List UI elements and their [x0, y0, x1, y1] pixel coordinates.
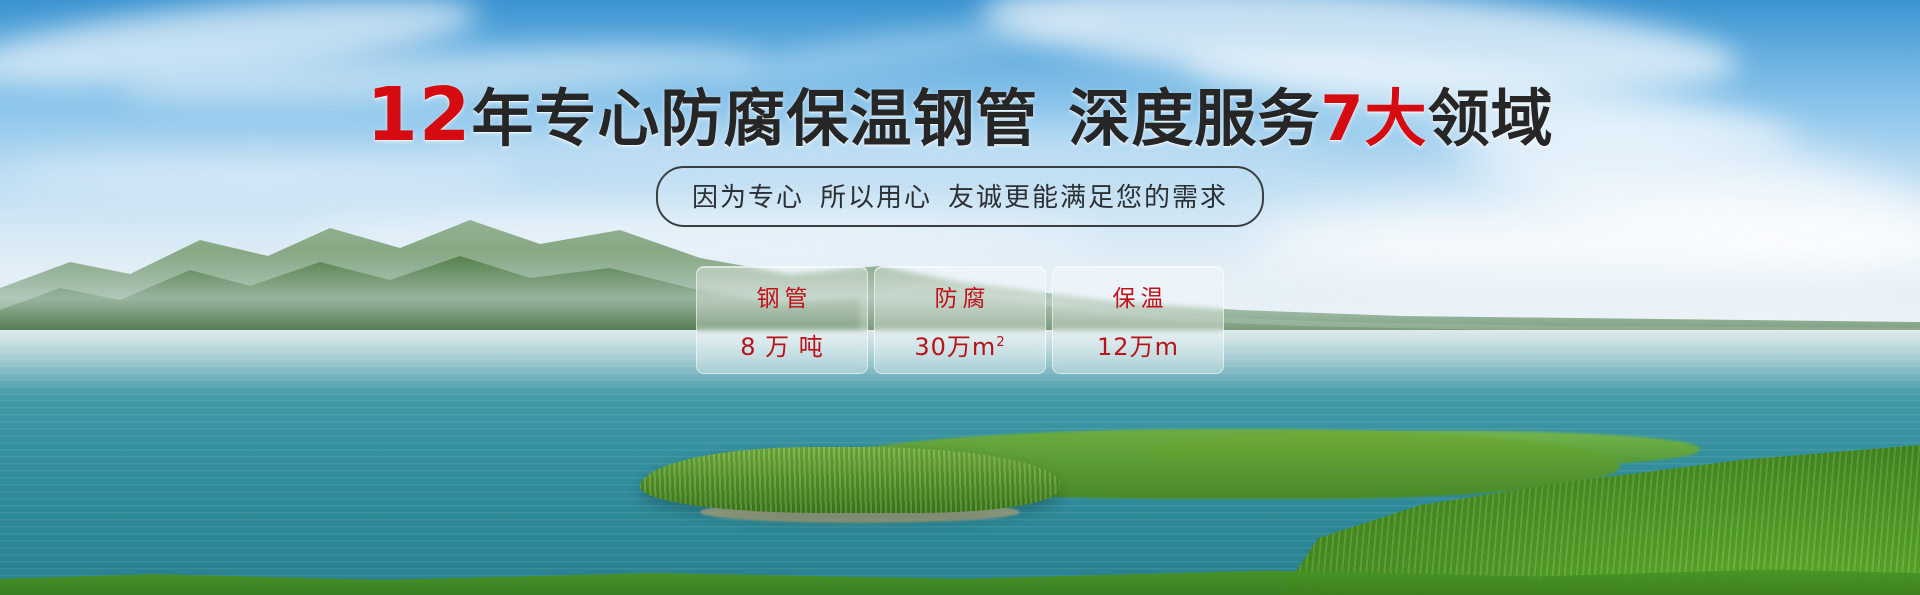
- stat-card-value-text: 8 万 吨: [740, 333, 824, 361]
- stat-card-group: 钢管 8 万 吨 防腐 30万m2 保温 12万m: [696, 266, 1224, 374]
- stat-card-value: 30万m2: [914, 327, 1005, 362]
- stat-card-value: 12万m: [1097, 327, 1179, 362]
- headline-number: 12: [366, 72, 471, 158]
- headline-segment-3: 领域: [1428, 82, 1554, 155]
- grass-island: [640, 447, 1060, 513]
- subtitle-part-1: 因为专心: [692, 183, 804, 213]
- stat-card-title: 保温: [1108, 279, 1169, 313]
- stat-card-title: 防腐: [930, 279, 991, 313]
- grass-texture: [640, 447, 1060, 513]
- stat-card-value-text: 12万m: [1097, 333, 1179, 361]
- subtitle-part-2: 所以用心: [820, 183, 932, 213]
- headline-segment-1: 年专心防腐保温钢管: [471, 82, 1038, 155]
- stat-card-value-sup: 2: [996, 335, 1005, 350]
- stat-card-insulation[interactable]: 保温 12万m: [1052, 266, 1224, 374]
- subtitle-part-3: 友诚更能满足您的需求: [948, 183, 1228, 213]
- stat-card-steel-pipe[interactable]: 钢管 8 万 吨: [696, 266, 868, 374]
- stat-card-value-text: 30万m: [914, 333, 996, 361]
- headline-accent-2: 7大: [1320, 82, 1427, 155]
- headline-segment-2: 深度服务: [1068, 82, 1320, 155]
- hero-banner: 12年专心防腐保温钢管深度服务7大领域 因为专心所以用心友诚更能满足您的需求 钢…: [0, 0, 1920, 595]
- subtitle-pill: 因为专心所以用心友诚更能满足您的需求: [656, 166, 1264, 227]
- stat-card-anticorrosion[interactable]: 防腐 30万m2: [874, 266, 1046, 374]
- stat-card-value: 8 万 吨: [740, 327, 824, 362]
- headline: 12年专心防腐保温钢管深度服务7大领域: [0, 78, 1920, 152]
- stat-card-title: 钢管: [752, 279, 813, 313]
